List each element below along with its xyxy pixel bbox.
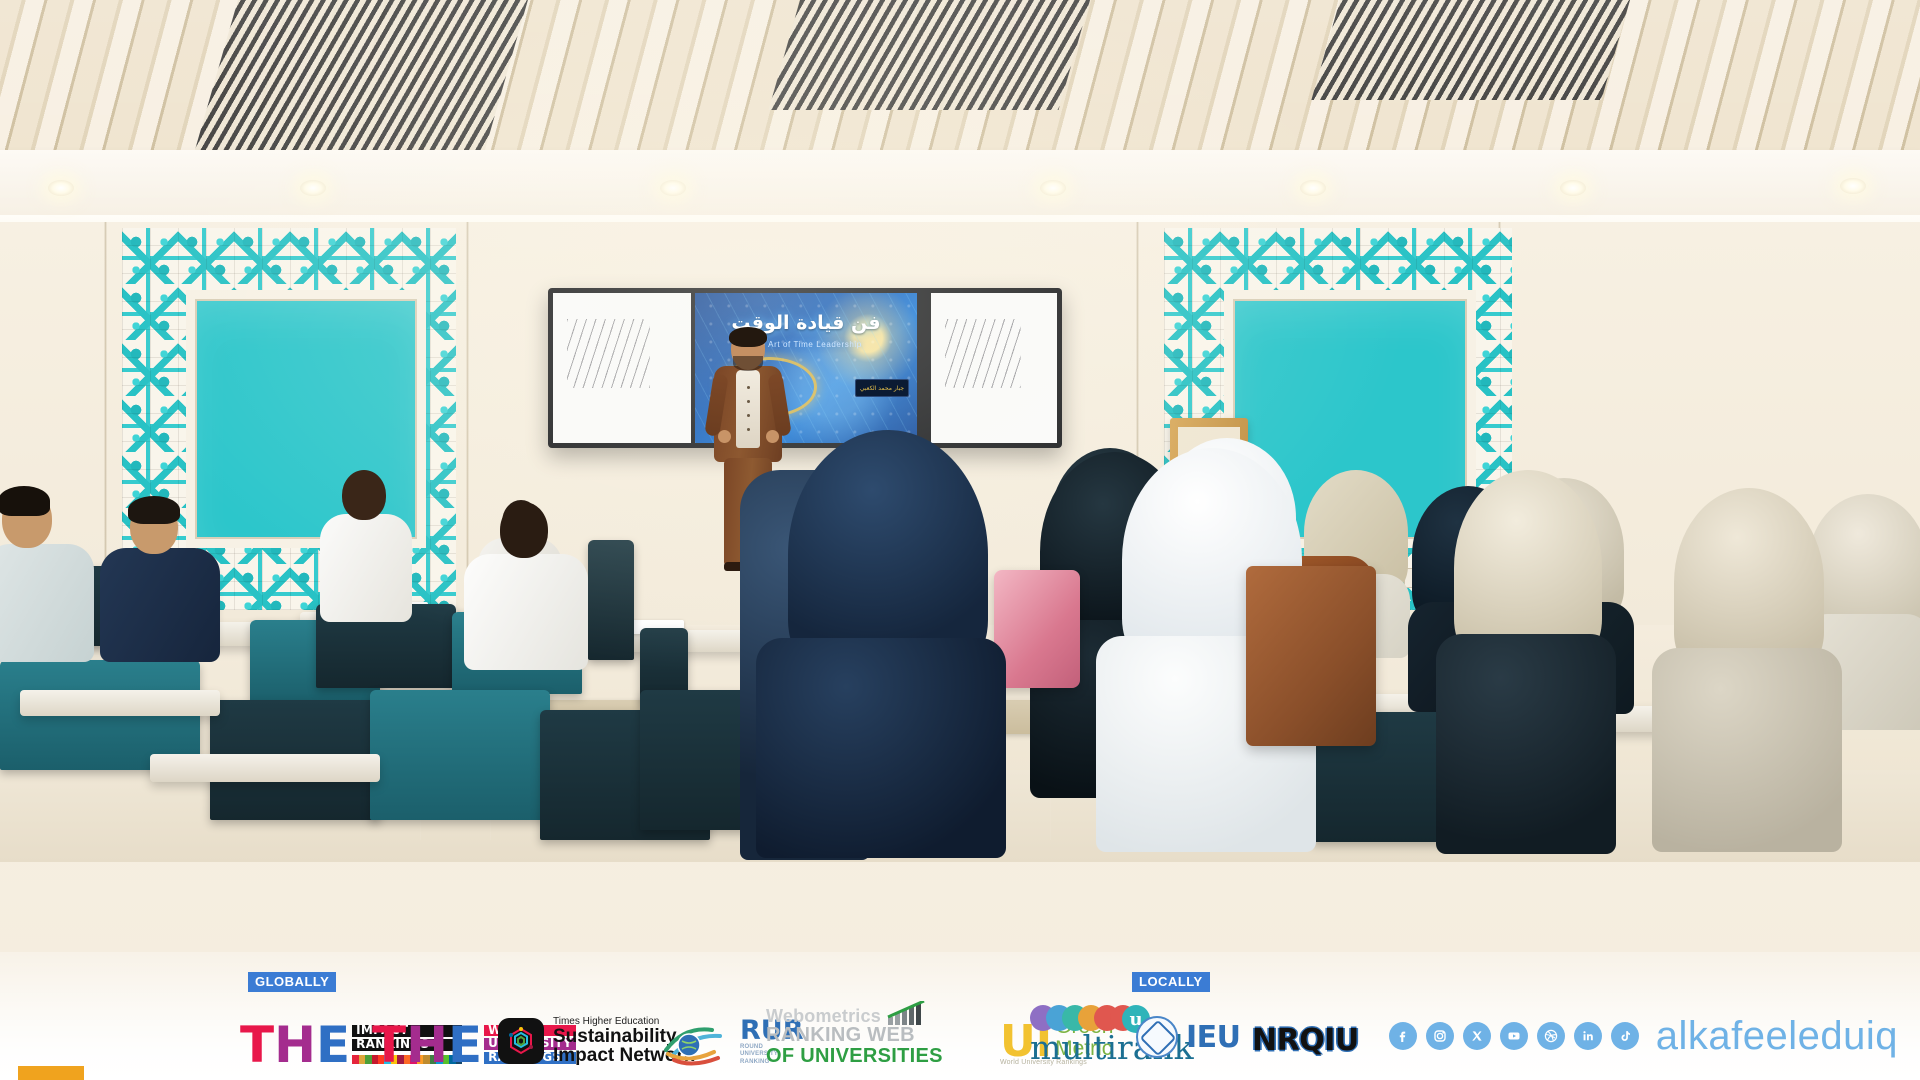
- student-back-left-2: [320, 470, 412, 620]
- footer-logo-row: QS TEACHING ★ ★ ★ ★ ★ GLOBALLY T H E: [0, 952, 1920, 1080]
- nrqiu-wordmark: NRQIU: [1252, 1023, 1359, 1058]
- desk: [20, 690, 220, 716]
- webometrics-logo: Webometrics RANKING WEB OF UNIVERSITIES: [766, 1001, 943, 1066]
- ceiling-light: [1300, 180, 1326, 196]
- student-foreground-right-cream: [1436, 470, 1616, 850]
- speaker-name-banner: جبار محمد الكعبي: [855, 379, 909, 397]
- social-handle: alkafeeleduiq: [1656, 1016, 1898, 1056]
- globally-badge: GLOBALLY: [248, 972, 336, 992]
- ceiling-light: [300, 180, 326, 196]
- student-body: [1436, 634, 1616, 854]
- the-letter-h: H: [274, 1025, 316, 1066]
- student-body: [1652, 648, 1842, 852]
- ieu-seal-icon: [1136, 1016, 1178, 1058]
- accreditation-footer: QS TEACHING ★ ★ ★ ★ ★ GLOBALLY T H E: [0, 952, 1920, 1080]
- dribbble-icon[interactable]: [1537, 1022, 1565, 1050]
- the-letter-t: T: [372, 1025, 406, 1066]
- student-head: [342, 470, 386, 520]
- chair: [370, 690, 550, 820]
- presenter-hair: [729, 327, 767, 347]
- instagram-icon[interactable]: [1426, 1022, 1454, 1050]
- social-media-bar: alkafeeleduiq: [1389, 1016, 1898, 1056]
- pink-handbag: [994, 570, 1080, 688]
- hexagon-network-icon: [498, 1018, 544, 1064]
- student-foreground-navy-hijab: [756, 430, 1006, 850]
- ceiling-light: [660, 180, 686, 196]
- the-letter-t: T: [240, 1025, 274, 1066]
- student-body: [320, 514, 412, 622]
- vest-button: [747, 386, 750, 389]
- ceiling-band-lower: [0, 215, 1920, 222]
- speaker-name-text: جبار محمد الكعبي: [860, 385, 904, 392]
- lecture-hall-photo: فن قيادة الوقت The Art of Time Leadershi…: [0, 0, 1920, 1080]
- screenshot-root: فن قيادة الوقت The Art of Time Leadershi…: [0, 0, 1920, 1080]
- ceiling-light: [1560, 180, 1586, 196]
- student-far-left: [0, 490, 94, 660]
- facebook-icon[interactable]: [1389, 1022, 1417, 1050]
- presenter-hand-left: [718, 430, 731, 443]
- ceiling: [0, 0, 1920, 222]
- nrqiu-logo: NRQIU: [1252, 1023, 1359, 1058]
- student-body: [756, 638, 1006, 858]
- rur-eye-svg: [662, 1020, 734, 1066]
- whiteboard-right: [931, 293, 1057, 443]
- qs-logo-mark: QS: [18, 1066, 84, 1080]
- student-head: [500, 502, 548, 558]
- student-hair: [128, 496, 180, 524]
- desk: [150, 754, 380, 782]
- hexagon-svg: [506, 1026, 536, 1056]
- ieu-logo: IEU: [1136, 1016, 1241, 1058]
- vest-button: [747, 414, 750, 417]
- student-body: [100, 548, 220, 662]
- student-foreground-far-right: [1652, 488, 1842, 848]
- chart-arrow-icon: [886, 1001, 928, 1025]
- whiteboard-left: [553, 293, 691, 443]
- locally-badge: LOCALLY: [1132, 972, 1210, 992]
- multirank-circles: u: [1030, 1005, 1150, 1031]
- vest-button: [747, 428, 750, 431]
- ceiling-light: [1040, 180, 1066, 196]
- globe-eye-icon: [662, 1020, 734, 1066]
- x-twitter-icon[interactable]: [1463, 1022, 1491, 1050]
- chair: [588, 540, 634, 660]
- display-wall: فن قيادة الوقت The Art of Time Leadershi…: [548, 288, 1062, 448]
- ceiling-vent: [1311, 0, 1638, 100]
- ceiling-light: [48, 180, 74, 196]
- ceiling-light: [1840, 178, 1866, 194]
- presenter-beard: [733, 356, 763, 371]
- webometrics-text-block: Webometrics RANKING WEB OF UNIVERSITIES: [766, 1001, 943, 1066]
- youtube-icon[interactable]: [1500, 1022, 1528, 1050]
- ieu-seal-inner: [1140, 1020, 1177, 1057]
- student-white-shirt: [464, 502, 588, 668]
- webometrics-ranking-web: RANKING WEB: [766, 1025, 943, 1045]
- webometrics-of-universities: OF UNIVERSITIES: [766, 1046, 943, 1066]
- linkedin-icon[interactable]: [1574, 1022, 1602, 1050]
- student-body: [0, 544, 94, 662]
- student-body: [464, 554, 588, 670]
- student-left-blazer: [100, 500, 220, 660]
- the-letter-e: E: [448, 1025, 482, 1066]
- the-letter-h: H: [406, 1025, 448, 1066]
- the-letter-e: E: [316, 1025, 350, 1066]
- student-hair: [0, 486, 50, 516]
- tiktok-icon[interactable]: [1611, 1022, 1639, 1050]
- webometrics-wordmark: Webometrics: [766, 1007, 881, 1025]
- ceiling-band: [0, 150, 1920, 222]
- ceiling-vent: [768, 0, 1101, 110]
- vest-button: [747, 400, 750, 403]
- ieu-wordmark: IEU: [1186, 1020, 1241, 1055]
- brown-leather-bag: [1246, 566, 1376, 746]
